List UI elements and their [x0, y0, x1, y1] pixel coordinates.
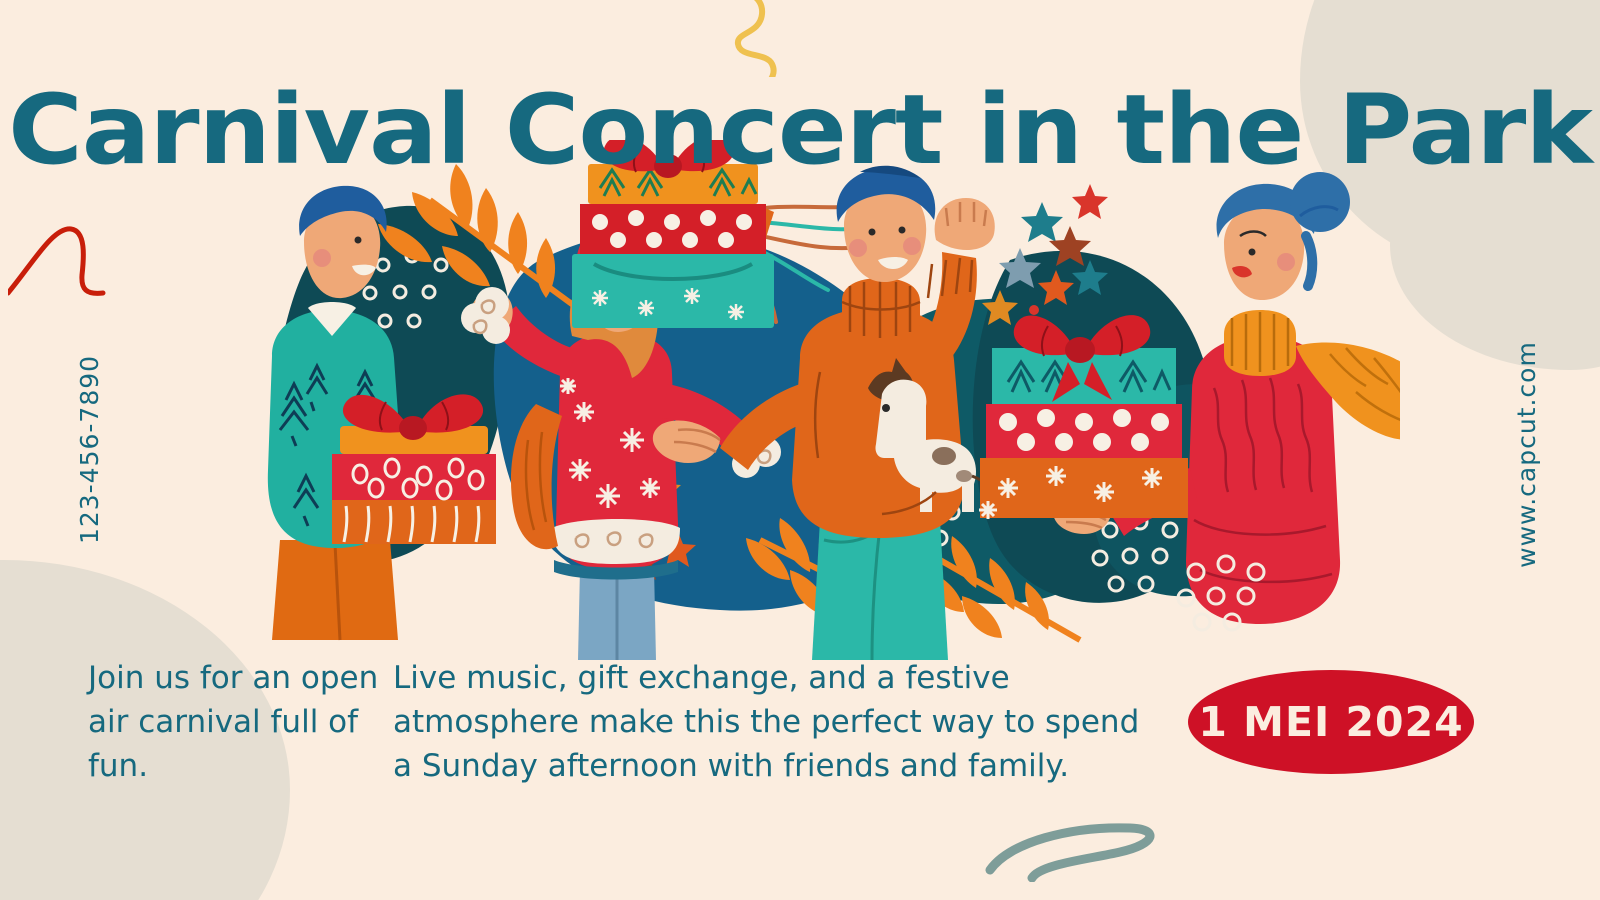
- website-url: www.capcut.com: [1512, 341, 1541, 568]
- red-squiggle-decoration: [8, 215, 118, 310]
- phone-number: 123-456-7890: [75, 355, 104, 544]
- blurb-left-text: Join us for an open air carnival full of…: [88, 656, 388, 788]
- yellow-ribbon-curl-decoration: [680, 0, 810, 77]
- illustration-people-exchanging-gifts: [180, 140, 1400, 660]
- poster-canvas: Carnival Concert in the Park 123-456-789…: [0, 0, 1600, 900]
- date-badge-label: 1 MEI 2024: [1198, 698, 1463, 746]
- bottom-content-area: Join us for an open air carnival full of…: [0, 648, 1600, 828]
- date-badge[interactable]: 1 MEI 2024: [1188, 670, 1474, 774]
- blurb-main-text: Live music, gift exchange, and a festive…: [393, 656, 1163, 788]
- page-title: Carnival Concert in the Park: [0, 82, 1600, 178]
